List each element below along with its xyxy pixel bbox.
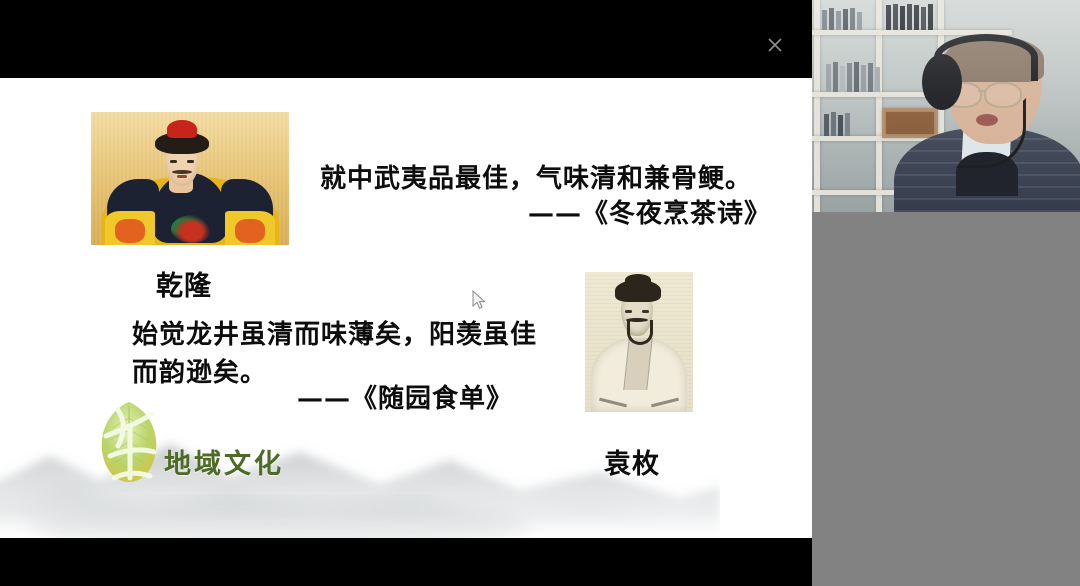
webcam-video[interactable] (812, 0, 1080, 212)
quote-two-source: ——《随园食单》 (297, 378, 513, 415)
qianlong-portrait-image (91, 112, 289, 245)
yuanmei-author-label: 袁枚 (604, 442, 660, 481)
player-bottombar (0, 538, 812, 586)
tea-leaf-icon (96, 400, 162, 484)
close-icon[interactable] (760, 30, 790, 60)
presentation-slide: 就中武夷品最佳，气味清和兼骨鲠。 ——《冬夜烹茶诗》 乾隆 始觉龙井虽清而味薄矣… (0, 78, 812, 538)
yuanmei-portrait-image (585, 272, 693, 412)
brand-text: 地域文化 (164, 442, 284, 481)
qianlong-author-label: 乾隆 (156, 264, 212, 303)
quote-two-line-one: 始觉龙井虽清而味薄矣，阳羡虽佳 (132, 314, 537, 351)
quote-one-source: ——《冬夜烹茶诗》 (528, 193, 771, 230)
presenter-figure (898, 32, 1080, 212)
quote-one-text: 就中武夷品最佳，气味清和兼骨鲠。 (320, 158, 752, 195)
screen-root: 就中武夷品最佳，气味清和兼骨鲠。 ——《冬夜烹茶诗》 乾隆 始觉龙井虽清而味薄矣… (0, 0, 1080, 586)
brand-logo: 地域文化 (92, 400, 302, 498)
player-topbar (0, 0, 812, 78)
quote-two-line-two: 而韵逊矣。 (132, 352, 267, 389)
mouse-cursor (472, 290, 486, 310)
right-panel (812, 0, 1080, 586)
